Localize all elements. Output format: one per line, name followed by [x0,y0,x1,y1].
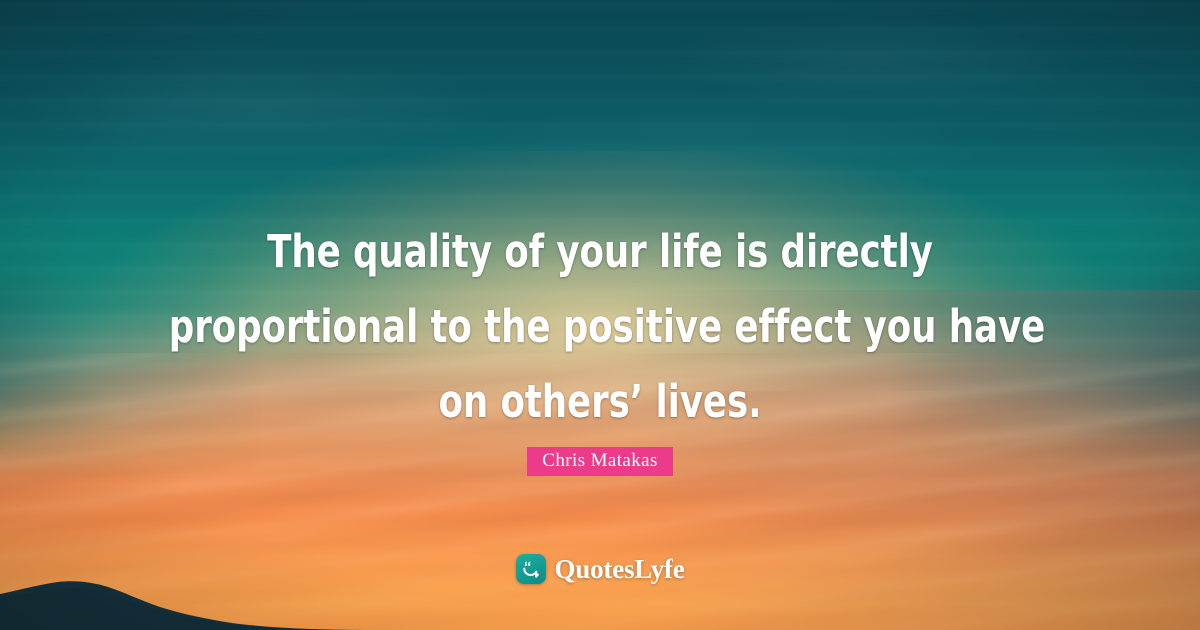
quote-line-2: proportional to the positive effect you … [169,289,1031,364]
author-name-badge: Chris Matakas [527,447,673,476]
quote-line-3: on others’ lives. [169,364,1031,439]
quote-line-1: The quality of your life is directly [169,214,1031,289]
quote-text-block: The quality of your life is directly pro… [0,214,1200,439]
smiley-quote-glyph [520,558,542,580]
quoteslyfe-wordmark: QuotesLyfe [555,554,685,584]
author-attribution: Chris Matakas [0,447,1200,476]
quote-image-canvas: The quality of your life is directly pro… [0,0,1200,630]
quoteslyfe-smiley-quote-icon [516,554,546,584]
quoteslyfe-logo[interactable]: QuotesLyfe [0,554,1200,584]
